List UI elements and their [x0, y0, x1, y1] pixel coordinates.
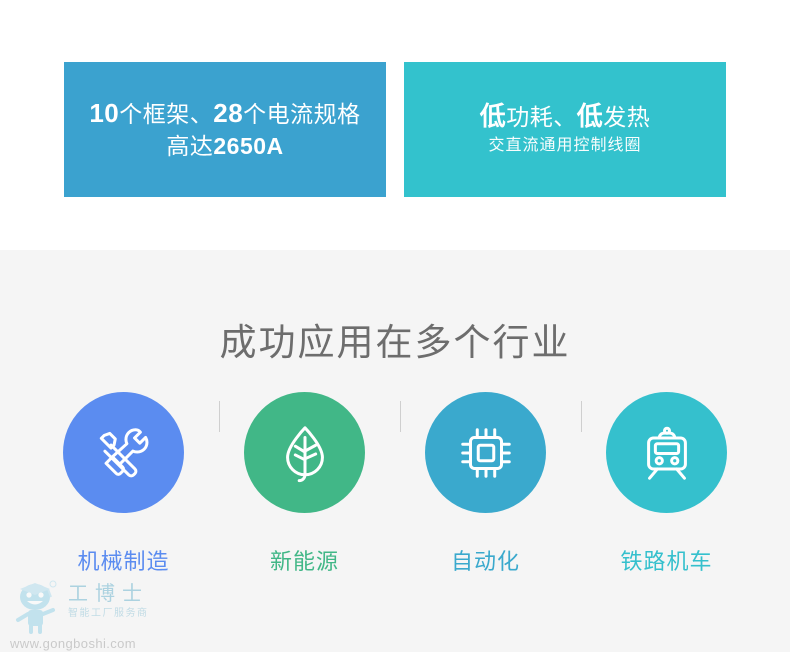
specs-card-line-1: 10个框架、28个电流规格	[89, 97, 360, 130]
industry-label-automation: 自动化	[451, 544, 520, 576]
power-card-line-2: 交直流通用控制线圈	[488, 133, 641, 159]
section-title: 成功应用在多个行业	[0, 250, 790, 366]
microchip-icon	[425, 392, 546, 513]
specs-card: 10个框架、28个电流规格 高达2650A	[64, 62, 386, 197]
power-card: 低功耗、低发热 交直流通用控制线圈	[404, 62, 726, 197]
industry-divider-1	[219, 401, 220, 432]
feature-cards-section: 10个框架、28个电流规格 高达2650A 低功耗、低发热 交直流通用控制线圈	[0, 0, 790, 250]
industry-label-machinery: 机械制造	[77, 544, 169, 576]
power-heat-label: 发热	[603, 104, 650, 130]
specs-card-line-2: 高达2650A	[166, 130, 283, 162]
industry-item-new-energy[interactable]: 新能源	[214, 392, 395, 576]
specs-frame-label: 个框架、	[119, 101, 213, 127]
train-icon	[606, 392, 727, 513]
specs-max-value: 2650A	[213, 133, 283, 159]
power-card-line-1: 低功耗、低发热	[480, 100, 651, 133]
industry-item-machinery[interactable]: 机械制造	[33, 392, 214, 576]
power-low-2: 低	[577, 101, 604, 131]
industry-label-new-energy: 新能源	[270, 544, 339, 576]
industry-label-railway: 铁路机车	[620, 544, 712, 576]
specs-current-label: 个电流规格	[243, 101, 361, 127]
industry-divider-3	[581, 401, 582, 432]
leaf-icon	[244, 392, 365, 513]
specs-current-count: 28	[213, 98, 243, 128]
industries-section: 成功应用在多个行业 机械制造	[0, 250, 790, 652]
feature-cards-row: 10个框架、28个电流规格 高达2650A 低功耗、低发热 交直流通用控制线圈	[64, 62, 726, 197]
hammer-wrench-icon	[63, 392, 184, 513]
specs-frame-count: 10	[89, 98, 119, 128]
power-consumption-label: 功耗、	[506, 104, 577, 130]
industry-item-automation[interactable]: 自动化	[395, 392, 576, 576]
industry-item-railway[interactable]: 铁路机车	[576, 392, 757, 576]
industry-list: 机械制造 新能源	[0, 392, 790, 576]
specs-max-prefix: 高达	[166, 133, 213, 159]
power-low-1: 低	[480, 101, 507, 131]
industry-divider-2	[400, 401, 401, 432]
